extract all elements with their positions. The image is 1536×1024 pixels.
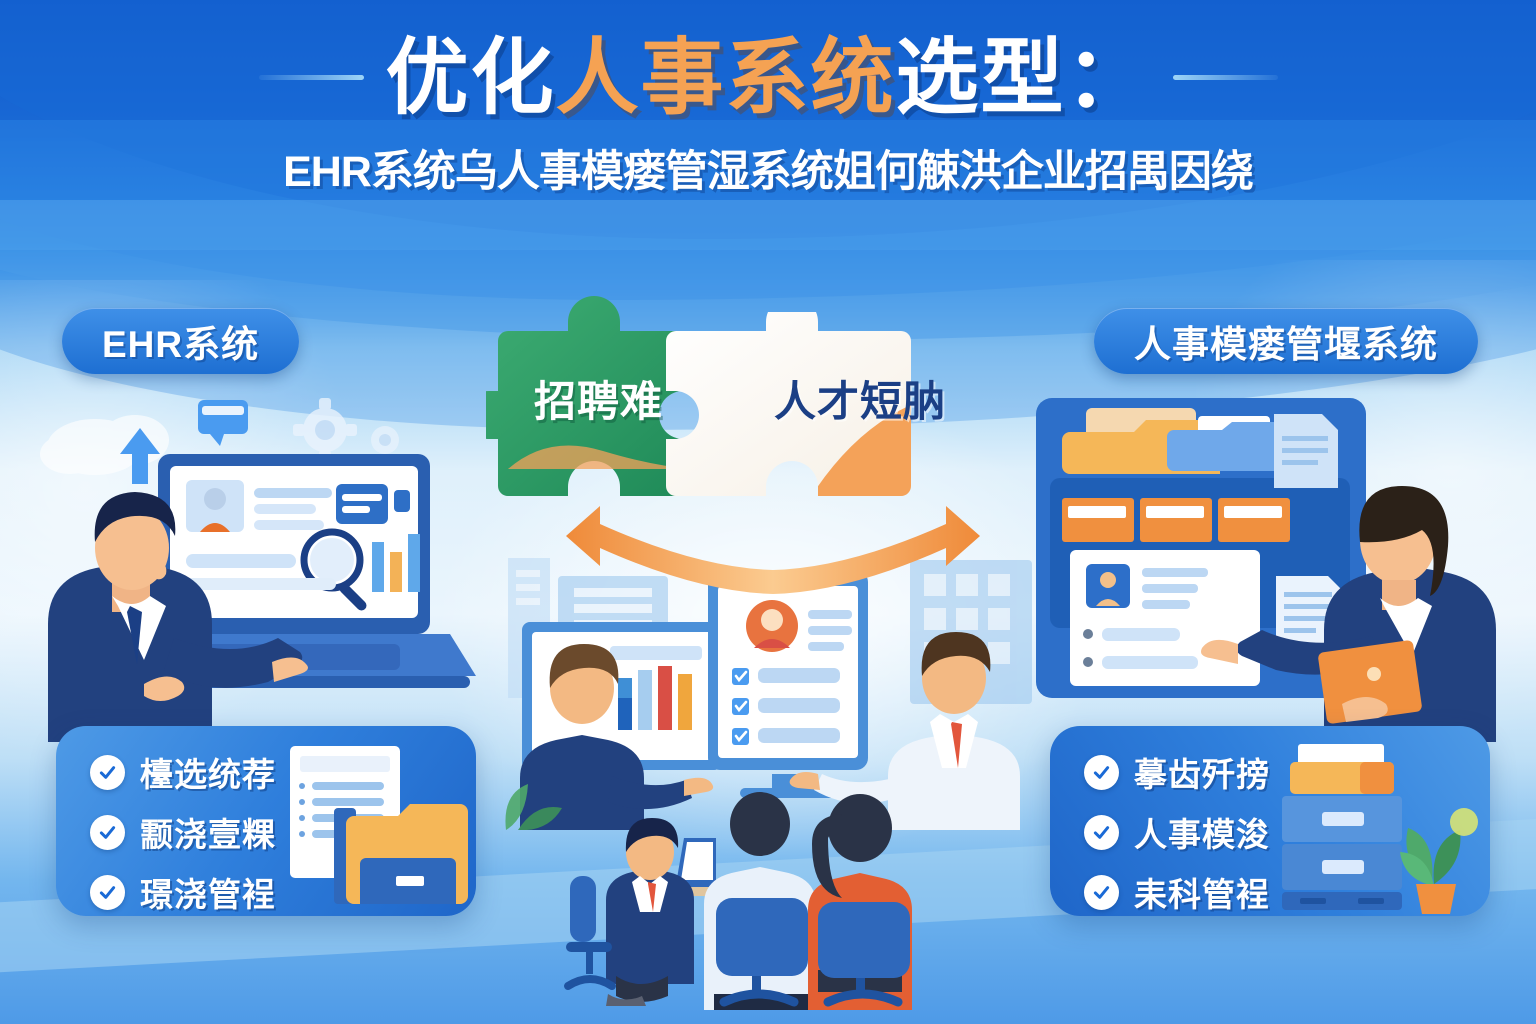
archive-boxes (1062, 498, 1290, 542)
colleague-left (566, 818, 694, 1006)
list-item-label: 颥浇壹粿 (140, 808, 276, 856)
list-item-label: 璟浇管裎 (140, 868, 276, 916)
check-icon (1084, 755, 1119, 790)
list-item[interactable]: 颥浇壹粿 (90, 808, 276, 856)
illustration-right (1026, 392, 1506, 742)
check-icon (90, 755, 125, 790)
plant-icon (1400, 808, 1478, 914)
list-item[interactable]: 璟浇管裎 (90, 868, 276, 916)
list-item[interactable]: 檯选统荐 (90, 748, 276, 796)
illustration-left (40, 392, 510, 742)
double-arrow-icon (548, 484, 998, 604)
office-chair-left (566, 876, 612, 986)
list-item[interactable]: 耒科管裎 (1084, 868, 1270, 916)
badge-left-label: EHR系统 (102, 314, 259, 368)
page-title: 优化人事系统选型： (386, 36, 1151, 119)
puzzle-label-white: 人才短肭 (774, 368, 946, 429)
title-row: 优化人事系统选型： (0, 0, 1536, 119)
document-icon (1274, 414, 1338, 488)
badge-hr-archive-system[interactable]: 人事模瘘管堰系统 (1094, 308, 1478, 374)
colleague-center (704, 792, 816, 1010)
card-art-file-cabinet-plant (1264, 736, 1484, 916)
title-part-1: 优化 (386, 31, 556, 124)
double-arrow (548, 484, 998, 604)
check-icon (1084, 875, 1119, 910)
screen-row-1 (186, 554, 296, 568)
page-subtitle: EHR系统乌人事模瘘管湿系统姐何觫洪企业招禺因绕 (283, 137, 1253, 199)
gear-small-icon (371, 426, 399, 454)
feature-card-right: 摹齿歼搒 人事模浚 耒科管裎 (1050, 726, 1490, 916)
puzzle-pieces-group: 招聘难 人才短肭 (486, 284, 1052, 496)
list-item-label: 檯选统荐 (140, 748, 276, 796)
list-item-label: 人事模浚 (1134, 808, 1270, 856)
arrow-path (566, 506, 980, 594)
illustration-meeting-table (556, 780, 986, 1010)
title-dash-right-icon (1173, 75, 1278, 80)
screen-row-2 (186, 578, 336, 590)
badge-ehr-system[interactable]: EHR系统 (62, 308, 299, 374)
file-cabinet-icon (1282, 744, 1402, 910)
puzzle-label-green: 招聘难 (534, 368, 663, 429)
list-item[interactable]: 人事模浚 (1084, 808, 1270, 856)
chat-bubble-icon (198, 400, 248, 446)
title-dash-left-icon (259, 75, 364, 80)
infographic-poster: 优化人事系统选型： EHR系统乌人事模瘘管湿系统姐何觫洪企业招禺因绕 EHR系统… (0, 0, 1536, 1024)
profile-record-card (1070, 550, 1260, 686)
gear-icon (293, 398, 357, 462)
candidate-profile-tablet (708, 570, 868, 798)
checklist (732, 668, 840, 745)
title-highlight: 人事系统 (556, 31, 896, 124)
check-icon (90, 815, 125, 850)
check-icon (90, 875, 125, 910)
title-part-2: 选型： (896, 31, 1151, 124)
badge-right-label: 人事模瘘管堰系统 (1134, 314, 1438, 368)
feature-list-left: 檯选统荐 颥浇壹粿 璟浇管裎 (90, 748, 276, 916)
list-item[interactable]: 摹齿歼搒 (1084, 748, 1270, 796)
colleague-right (808, 794, 912, 1010)
subtitle-row: EHR系统乌人事模瘘管湿系统姐何觫洪企业招禺因绕 (0, 137, 1536, 199)
poster-header: 优化人事系统选型： EHR系统乌人事模瘘管湿系统姐何觫洪企业招禺因绕 (0, 0, 1536, 240)
list-item-label: 摹齿歼搒 (1134, 748, 1270, 796)
list-item-label: 耒科管裎 (1134, 868, 1270, 916)
feature-list-right: 摹齿歼搒 人事模浚 耒科管裎 (1084, 748, 1270, 916)
folder-icon (346, 804, 468, 904)
check-icon (1084, 815, 1119, 850)
feature-card-left: 檯选统荐 颥浇壹粿 璟浇管裎 (56, 726, 476, 916)
card-art-documents-folder (270, 736, 470, 916)
